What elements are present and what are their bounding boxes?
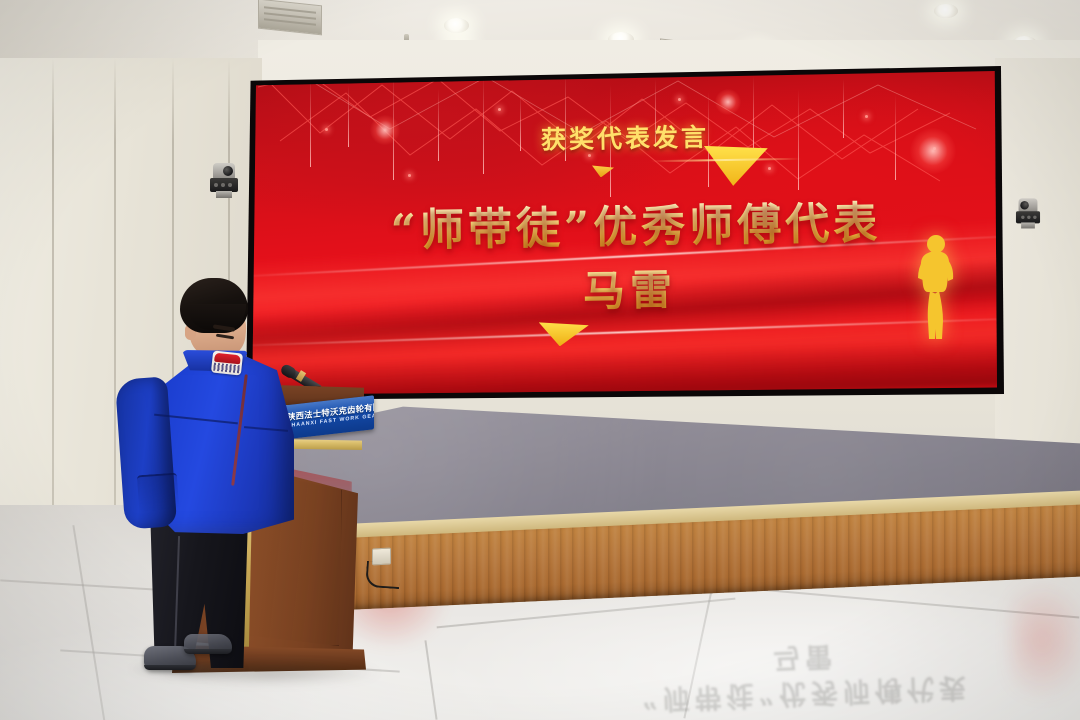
ceiling-downlight-6 xyxy=(934,4,958,18)
light-dot xyxy=(768,167,771,170)
light-glow xyxy=(715,89,741,115)
ptz-camera-right-icon xyxy=(1016,198,1040,227)
conference-hall-scene: 获奖代表发言 “师带徒”优秀师傅代表 马雷 “师带徒”优秀师傅代表 马雷 xyxy=(0,0,1080,720)
light-dot xyxy=(498,108,501,111)
shoe-sole-left xyxy=(144,665,196,670)
ceiling-downlight-1 xyxy=(444,18,469,33)
led-screen: 获奖代表发言 “师带徒”优秀师傅代表 马雷 xyxy=(250,69,1000,396)
light-dot xyxy=(408,174,411,177)
chest-logo-patch xyxy=(211,350,243,375)
jacket-pocket xyxy=(137,473,179,512)
led-speaker-name: 马雷 xyxy=(250,251,1000,324)
ptz-camera-left-icon xyxy=(210,163,240,199)
shoe-sole-right xyxy=(184,649,232,654)
power-cable xyxy=(365,561,401,589)
floor-red-light-spill xyxy=(1010,580,1080,700)
